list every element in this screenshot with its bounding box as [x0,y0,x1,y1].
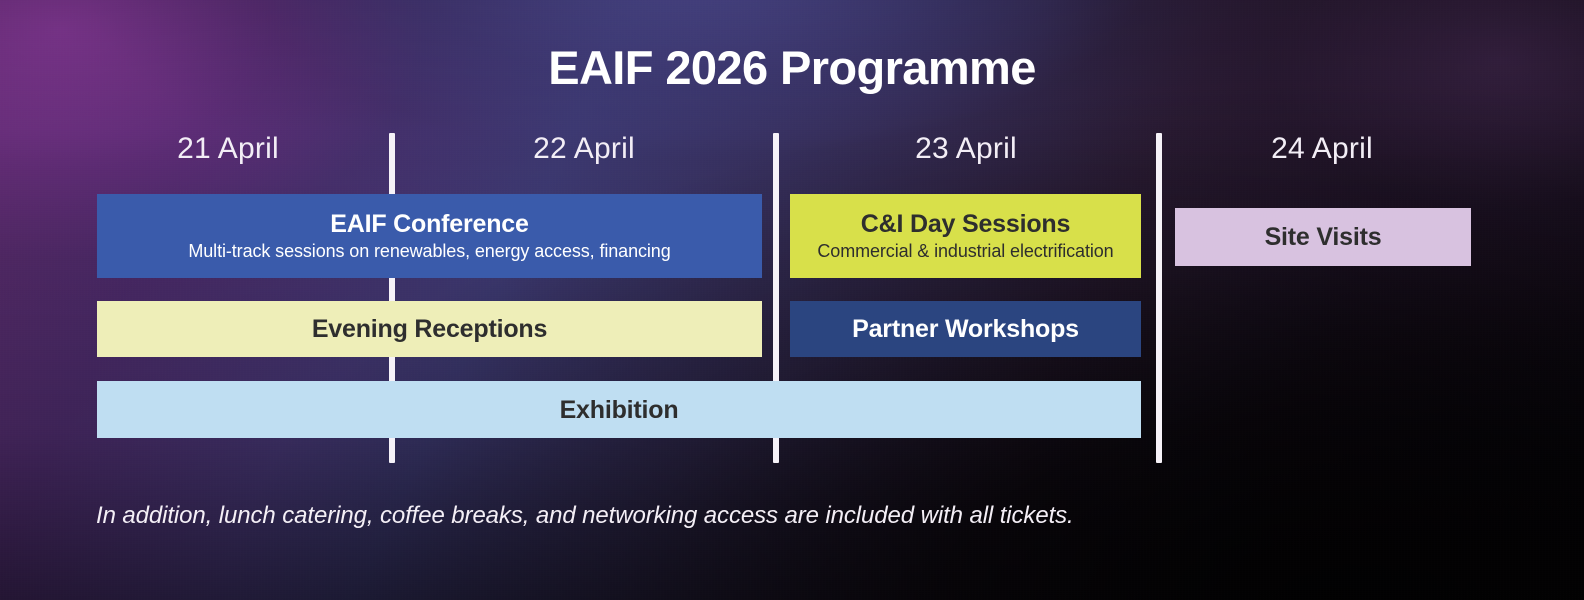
day-header-24-april: 24 April [1222,132,1422,166]
track-bar-ci-day-sessions[interactable]: C&I Day Sessions Commercial & industrial… [790,194,1141,278]
track-title-ci-day-sessions: C&I Day Sessions [861,210,1070,238]
track-title-eaif-conference: EAIF Conference [330,210,528,238]
day-header-22-april: 22 April [484,132,684,166]
track-title-evening-receptions: Evening Receptions [312,315,547,343]
track-bar-evening-receptions[interactable]: Evening Receptions [97,301,762,357]
track-bar-partner-workshops[interactable]: Partner Workshops [790,301,1141,357]
track-title-exhibition: Exhibition [560,396,679,424]
track-bar-site-visits[interactable]: Site Visits [1175,208,1471,266]
day-divider-3 [1156,133,1162,463]
track-bar-exhibition[interactable]: Exhibition [97,381,1141,438]
track-subtitle-ci-day-sessions: Commercial & industrial electrification [817,241,1113,263]
track-bar-eaif-conference[interactable]: EAIF Conference Multi-track sessions on … [97,194,762,278]
page-title: EAIF 2026 Programme [0,42,1584,94]
track-title-partner-workshops: Partner Workshops [852,315,1079,343]
track-title-site-visits: Site Visits [1265,223,1382,251]
track-subtitle-eaif-conference: Multi-track sessions on renewables, ener… [188,241,670,263]
programme-graphic: EAIF 2026 Programme 21 April 22 April 23… [0,0,1584,600]
day-header-23-april: 23 April [866,132,1066,166]
day-header-21-april: 21 April [128,132,328,166]
footnote-text: In addition, lunch catering, coffee brea… [96,502,1074,530]
